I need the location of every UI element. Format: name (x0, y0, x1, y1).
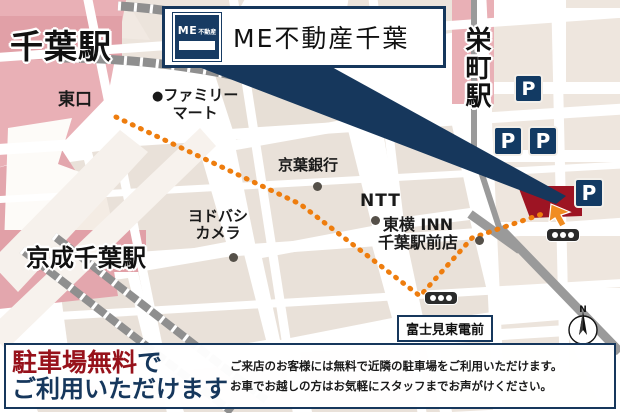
logo-mark-text: ME不動産 (178, 24, 216, 37)
banner-note-line1: ご来店のお客様には無料で近隣の駐車場をご利用いただけます。 (230, 356, 614, 376)
banner-note: ご来店のお客様には無料で近隣の駐車場をご利用いただけます。 お車でお越しの方はお… (224, 356, 614, 396)
banner-headline-free: 駐車場無料 (12, 348, 137, 377)
banner-headline: 駐車場無料で ご利用いただけます (6, 350, 224, 401)
shop-name-label: ME不動産千葉 (233, 19, 409, 55)
parking-free-banner: 駐車場無料で ご利用いただけます ご来店のお客様には無料で近隣の駐車場をご利用い… (4, 343, 616, 409)
traffic-signal-icon-south (424, 291, 458, 305)
logo-white-bar (179, 41, 215, 50)
banner-headline-suffix: で (137, 348, 162, 377)
shop-logo-badge: ME不動産 (173, 13, 221, 61)
banner-headline-line2: ご利用いただけます (12, 377, 224, 402)
shop-callout-box[interactable]: ME不動産 ME不動産千葉 (162, 6, 446, 68)
traffic-signal-icon-north (546, 228, 580, 242)
intersection-label-fujimihigashidenmae: 富士見東電前 (397, 315, 493, 342)
map-canvas: 千葉駅 栄町駅 京成千葉駅 東口 ●ファミリー マート 京葉銀行 NTT ヨドバ… (0, 0, 620, 413)
banner-note-line2: お車でお越しの方はお気軽にスタッフまでお声がけください。 (230, 376, 614, 396)
destination-arrow-icon (549, 204, 570, 227)
